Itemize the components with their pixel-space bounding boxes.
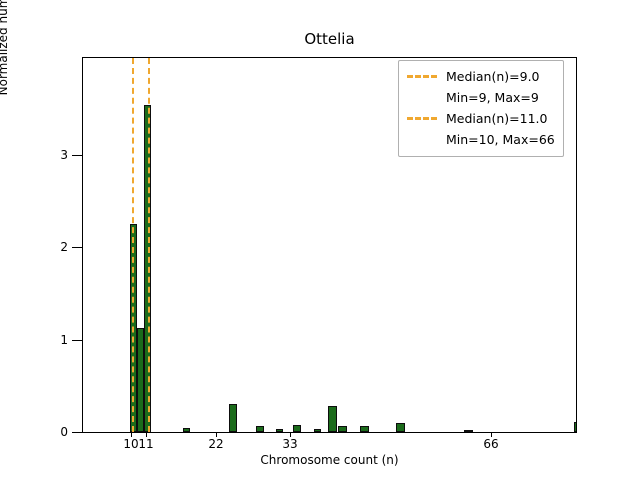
bar (276, 429, 283, 432)
y-tick-0 (72, 432, 82, 433)
matplotlib-figure: Ottelia Normalized num of counts (Total … (0, 0, 640, 480)
x-tick-label-22: 22 (196, 438, 236, 451)
dashed-line-icon (407, 75, 437, 78)
bar (338, 426, 347, 432)
bar (183, 428, 190, 432)
bar (464, 430, 473, 432)
x-tick-label-66: 66 (471, 438, 511, 451)
legend-label-3: Min=10, Max=66 (446, 132, 555, 147)
x-tick-label-33: 33 (270, 438, 310, 451)
y-tick-label-2: 2 (40, 241, 68, 253)
legend-entry-2: Median(n)=11.0 (407, 108, 555, 129)
dashed-line-icon (407, 117, 437, 120)
y-tick-label-0: 0 (40, 426, 68, 438)
y-tick-3 (72, 155, 82, 156)
bar (293, 425, 301, 432)
bar (396, 423, 405, 432)
legend-entry-1: Min=9, Max=9 (407, 87, 555, 108)
bar (137, 328, 144, 432)
y-tick-label-1: 1 (40, 334, 68, 346)
y-tick-1 (72, 340, 82, 341)
legend-label-0: Median(n)=9.0 (446, 69, 540, 84)
bar (360, 426, 369, 432)
legend-entry-3: Min=10, Max=66 (407, 129, 555, 150)
bar (328, 406, 337, 432)
x-tick-label-11: 11 (126, 438, 166, 451)
x-axis-label: Chromosome count (n) (82, 453, 577, 467)
bar (229, 404, 237, 432)
bar (574, 422, 576, 432)
y-axis-label: Normalized num of counts (Total 5) (0, 0, 10, 120)
legend-entry-0: Median(n)=9.0 (407, 66, 555, 87)
y-tick-label-3: 3 (40, 149, 68, 161)
median-line (132, 58, 134, 432)
bar (314, 429, 321, 432)
chart-legend: Median(n)=9.0 Min=9, Max=9 Median(n)=11.… (398, 60, 564, 157)
bar (256, 426, 264, 432)
chart-title: Ottelia (82, 30, 577, 48)
median-line (148, 58, 150, 432)
legend-label-2: Median(n)=11.0 (446, 111, 547, 126)
y-tick-2 (72, 247, 82, 248)
legend-label-1: Min=9, Max=9 (446, 90, 539, 105)
